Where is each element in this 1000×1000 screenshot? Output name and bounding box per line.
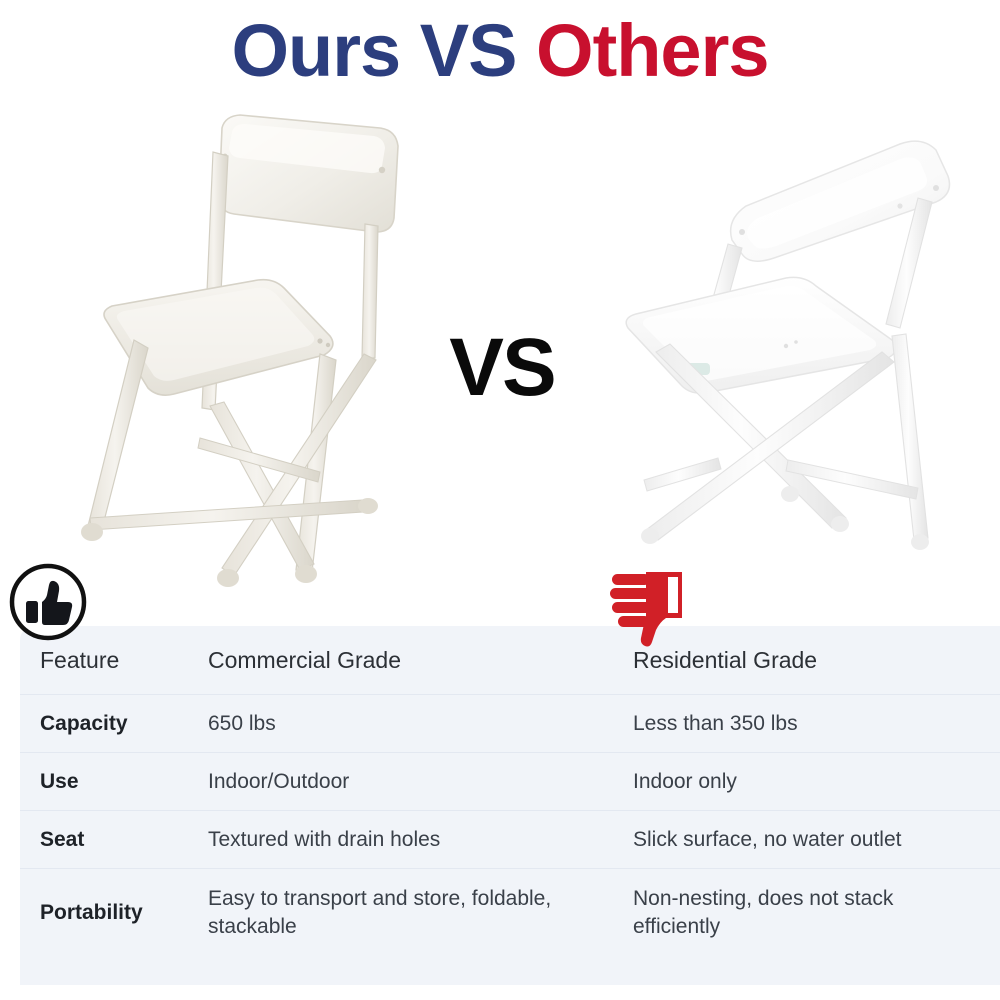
thumbs-up-icon bbox=[8, 562, 88, 642]
header-commercial-label: Commercial Grade bbox=[208, 647, 401, 673]
table-row: Seat Textured with drain holes Slick sur… bbox=[20, 810, 1000, 868]
comparison-table: Feature Commercial Grade Residential Gra… bbox=[20, 626, 1000, 985]
row-residential-value: Less than 350 lbs bbox=[633, 712, 798, 735]
row-residential-value: Slick surface, no water outlet bbox=[633, 828, 901, 851]
row-residential-value: Indoor only bbox=[633, 770, 737, 793]
row-commercial-value: Indoor/Outdoor bbox=[208, 770, 349, 793]
row-label: Seat bbox=[40, 828, 84, 851]
row-label-cell: Use bbox=[40, 768, 208, 795]
commercial-chair-image bbox=[62, 108, 424, 623]
row-commercial-value: Textured with drain holes bbox=[208, 828, 440, 851]
row-residential-cell: Less than 350 lbs bbox=[633, 710, 1000, 738]
table-row: Capacity 650 lbs Less than 350 lbs bbox=[20, 694, 1000, 752]
row-label: Portability bbox=[40, 901, 143, 924]
row-residential-value: Non-nesting, does not stack efficiently bbox=[633, 887, 893, 938]
thumbs-down-icon bbox=[606, 568, 688, 650]
table-row: Portability Easy to transport and store,… bbox=[20, 868, 1000, 956]
residential-chair-image bbox=[600, 128, 1000, 560]
header-feature-label: Feature bbox=[40, 647, 119, 673]
header-cell-feature: Feature bbox=[40, 646, 208, 675]
title-ours: Ours VS bbox=[231, 9, 516, 92]
row-residential-cell: Slick surface, no water outlet bbox=[633, 826, 1000, 854]
table-header-row: Feature Commercial Grade Residential Gra… bbox=[20, 626, 1000, 694]
row-label: Capacity bbox=[40, 712, 128, 735]
row-commercial-cell: Indoor/Outdoor bbox=[208, 768, 633, 796]
row-commercial-cell: Easy to transport and store, foldable, s… bbox=[208, 885, 633, 940]
versus-label: VS bbox=[432, 322, 572, 414]
row-label-cell: Portability bbox=[40, 899, 208, 926]
row-commercial-cell: 650 lbs bbox=[208, 710, 633, 738]
title-others: Others bbox=[536, 9, 769, 92]
page-title: Ours VS Others bbox=[0, 6, 1000, 96]
header-cell-commercial: Commercial Grade bbox=[208, 646, 633, 675]
row-commercial-cell: Textured with drain holes bbox=[208, 826, 633, 854]
table-row: Use Indoor/Outdoor Indoor only bbox=[20, 752, 1000, 810]
comparison-infographic: Ours VS Others bbox=[0, 0, 1000, 1000]
row-commercial-value: Easy to transport and store, foldable, s… bbox=[208, 887, 551, 938]
header-residential-label: Residential Grade bbox=[633, 647, 817, 673]
row-residential-cell: Non-nesting, does not stack efficiently bbox=[633, 885, 1000, 940]
header-cell-residential: Residential Grade bbox=[633, 646, 1000, 675]
row-label-cell: Seat bbox=[40, 826, 208, 853]
row-label: Use bbox=[40, 770, 79, 793]
row-label-cell: Capacity bbox=[40, 710, 208, 737]
row-commercial-value: 650 lbs bbox=[208, 712, 276, 735]
row-residential-cell: Indoor only bbox=[633, 768, 1000, 796]
